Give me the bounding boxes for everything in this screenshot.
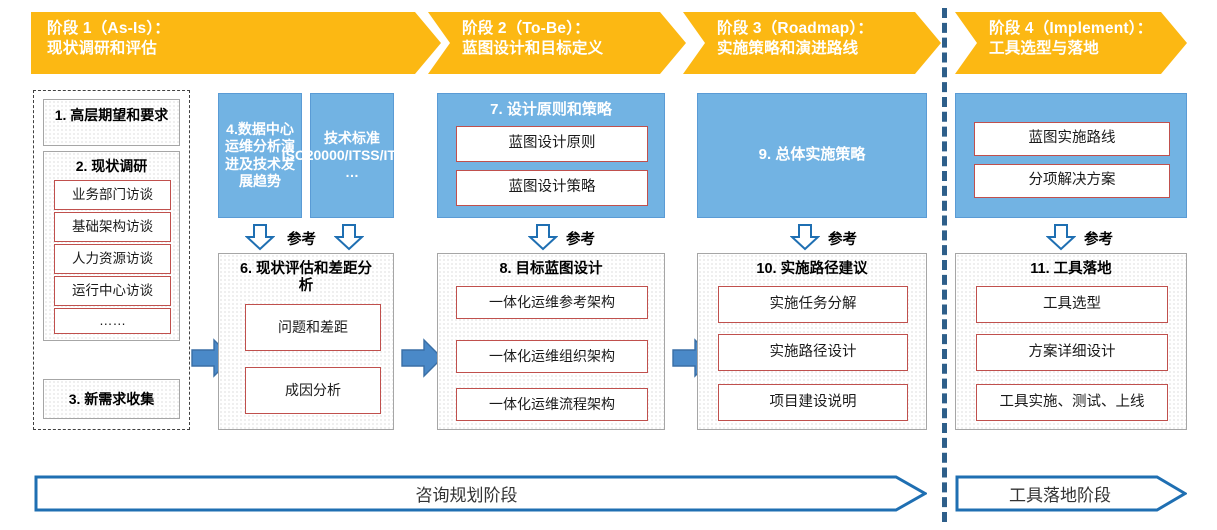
reference-down-arrow-2a xyxy=(245,223,275,251)
box-11-title: 11. 工具落地 xyxy=(956,261,1186,278)
reference-label-4: 参考 xyxy=(828,228,857,249)
box-3-new-requirements[interactable]: 3. 新需求收集 xyxy=(43,379,180,419)
phase-1-title-line2: 现状调研和评估 xyxy=(47,39,441,59)
box-2-item-5[interactable]: …… xyxy=(54,308,171,334)
box-2-item-1[interactable]: 业务部门访谈 xyxy=(54,180,171,210)
diagram-canvas: 阶段 1（As-Is）： 现状调研和评估 阶段 2（To-Be）： 蓝图设计和目… xyxy=(0,0,1217,530)
phase-1-title-line1: 阶段 1（As-Is）： xyxy=(47,19,441,39)
box-2-title: 2. 现状调研 xyxy=(44,158,179,174)
box-10-item-3[interactable]: 项目建设说明 xyxy=(718,384,908,421)
box-2-current-state-survey[interactable]: 2. 现状调研 业务部门访谈 基础架构访谈 人力资源访谈 运行中心访谈 …… xyxy=(43,151,180,341)
phase-separator-divider xyxy=(942,8,947,522)
box-2-item-3[interactable]: 人力资源访谈 xyxy=(54,244,171,274)
column-1-group: 1. 高层期望和要求 2. 现状调研 业务部门访谈 基础架构访谈 人力资源访谈 … xyxy=(33,90,190,430)
banner-2-label: 工具落地阶段 xyxy=(955,475,1187,512)
box-6-item-1[interactable]: 问题和差距 xyxy=(245,304,381,351)
reference-down-arrow-2b xyxy=(334,223,364,251)
phase-3-title-line2: 实施策略和演进路线 xyxy=(717,39,941,59)
box-8-item-2[interactable]: 一体化运维组织架构 xyxy=(456,340,648,373)
box-2-item-2[interactable]: 基础架构访谈 xyxy=(54,212,171,242)
phase-header-1[interactable]: 阶段 1（As-Is）： 现状调研和评估 xyxy=(31,12,441,74)
box-1-title: 1. 高层期望和要求 xyxy=(44,107,179,123)
box-top-item-1[interactable]: 蓝图实施路线 xyxy=(974,122,1170,156)
box-10-item-1[interactable]: 实施任务分解 xyxy=(718,286,908,323)
phase-header-4[interactable]: 阶段 4（Implement）： 工具选型与落地 xyxy=(955,12,1187,74)
box-10-implementation-path[interactable]: 10. 实施路径建议 实施任务分解 实施路径设计 项目建设说明 xyxy=(697,253,927,430)
box-10-title: 10. 实施路径建议 xyxy=(698,261,926,278)
box-9-overall-strategy[interactable]: 9. 总体实施策略 xyxy=(697,93,927,218)
box-2-item-4[interactable]: 运行中心访谈 xyxy=(54,276,171,306)
phase-4-title-line2: 工具选型与落地 xyxy=(989,39,1187,59)
phase-4-title-line1: 阶段 4（Implement）： xyxy=(989,19,1187,39)
box-tech-standards[interactable]: 技术标准ISO20000/ITSS/ITIL… … xyxy=(310,93,394,218)
box-6-gap-analysis[interactable]: 6. 现状评估和差距分析 问题和差距 成因分析 xyxy=(218,253,394,430)
box-10-item-2[interactable]: 实施路径设计 xyxy=(718,334,908,371)
box-8-target-blueprint[interactable]: 8. 目标蓝图设计 一体化运维参考架构 一体化运维组织架构 一体化运维流程架构 xyxy=(437,253,665,430)
phase-header-2[interactable]: 阶段 2（To-Be）： 蓝图设计和目标定义 xyxy=(428,12,686,74)
banner-1-label: 咨询规划阶段 xyxy=(34,475,927,512)
banner-consulting-phase[interactable]: 咨询规划阶段 xyxy=(34,475,927,512)
box-11-item-1[interactable]: 工具选型 xyxy=(976,286,1168,323)
reference-down-arrow-3 xyxy=(528,223,558,251)
phase-2-title-line2: 蓝图设计和目标定义 xyxy=(462,39,686,59)
tech-standards-title: 技术标准ISO20000/ITSS/ITIL… … xyxy=(282,130,423,181)
box-blueprint-implementation[interactable]: 蓝图实施路线 分项解决方案 xyxy=(955,93,1187,218)
box-11-item-3[interactable]: 工具实施、测试、上线 xyxy=(976,384,1168,421)
box-11-item-2[interactable]: 方案详细设计 xyxy=(976,334,1168,371)
box-11-tool-landing[interactable]: 11. 工具落地 工具选型 方案详细设计 工具实施、测试、上线 xyxy=(955,253,1187,430)
box-3-title: 3. 新需求收集 xyxy=(44,391,179,407)
reference-label-3: 参考 xyxy=(566,228,595,249)
box-6-item-2[interactable]: 成因分析 xyxy=(245,367,381,414)
phase-3-title-line1: 阶段 3（Roadmap）： xyxy=(717,19,941,39)
box-7-item-2[interactable]: 蓝图设计策略 xyxy=(456,170,648,206)
box-7-design-principles[interactable]: 7. 设计原则和策略 蓝图设计原则 蓝图设计策略 xyxy=(437,93,665,218)
box-9-title: 9. 总体实施策略 xyxy=(759,146,866,164)
reference-label-2: 参考 xyxy=(287,228,316,249)
phase-header-3[interactable]: 阶段 3（Roadmap）： 实施策略和演进路线 xyxy=(683,12,941,74)
box-8-title: 8. 目标蓝图设计 xyxy=(438,261,664,278)
reference-down-arrow-5 xyxy=(1046,223,1076,251)
box-7-item-1[interactable]: 蓝图设计原则 xyxy=(456,126,648,162)
box-8-item-3[interactable]: 一体化运维流程架构 xyxy=(456,388,648,421)
box-1-high-level-expectations[interactable]: 1. 高层期望和要求 xyxy=(43,99,180,146)
box-8-item-1[interactable]: 一体化运维参考架构 xyxy=(456,286,648,319)
box-top-item-2[interactable]: 分项解决方案 xyxy=(974,164,1170,198)
phase-2-title-line1: 阶段 2（To-Be）： xyxy=(462,19,686,39)
reference-label-5: 参考 xyxy=(1084,228,1113,249)
banner-tool-landing-phase[interactable]: 工具落地阶段 xyxy=(955,475,1187,512)
reference-down-arrow-4 xyxy=(790,223,820,251)
box-6-title: 6. 现状评估和差距分析 xyxy=(219,261,393,294)
box-7-title: 7. 设计原则和策略 xyxy=(438,101,664,118)
